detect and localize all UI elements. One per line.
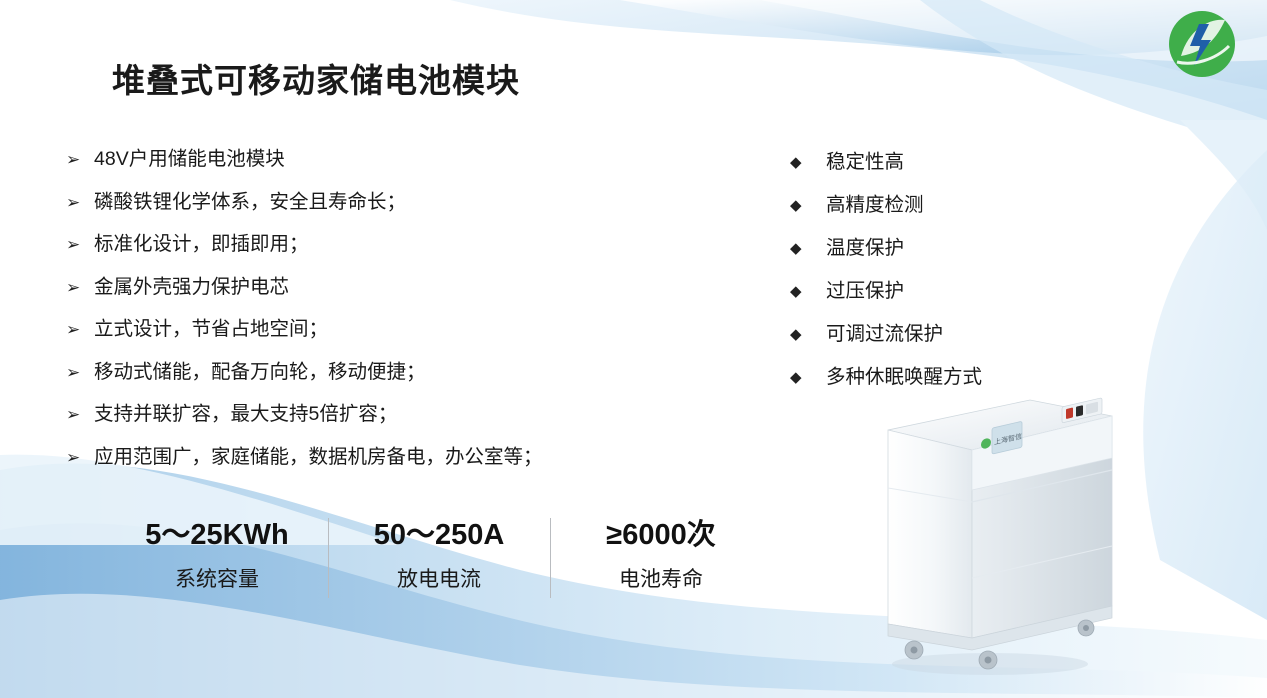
diamond-bullet-icon: ◆ <box>790 322 826 347</box>
feature-list-left: ➢ 48V户用储能电池模块 ➢ 磷酸铁锂化学体系，安全且寿命长； ➢ 标准化设计… <box>66 147 726 487</box>
arrow-bullet-icon: ➢ <box>66 317 94 342</box>
company-logo-icon <box>1159 8 1245 84</box>
arrow-bullet-icon: ➢ <box>66 147 94 172</box>
list-item: ➢ 48V户用储能电池模块 <box>66 147 726 172</box>
list-item-label: 应用范围广，家庭储能，数据机房备电，办公室等； <box>94 445 543 470</box>
list-item: ➢ 立式设计，节省占地空间； <box>66 317 726 342</box>
spec-cycle-life: ≥6000次 电池寿命 <box>550 512 772 602</box>
spec-value: 50～250A <box>328 512 550 558</box>
list-item-label: 立式设计，节省占地空间； <box>94 317 328 342</box>
arrow-bullet-icon: ➢ <box>66 232 94 257</box>
list-item-label: 支持并联扩容，最大支持5倍扩容； <box>94 402 397 427</box>
list-item-label: 可调过流保护 <box>826 322 943 347</box>
list-item-label: 温度保护 <box>826 236 904 261</box>
list-item-label: 磷酸铁锂化学体系，安全且寿命长； <box>94 190 406 215</box>
arrow-bullet-icon: ➢ <box>66 402 94 427</box>
list-item-label: 移动式储能，配备万向轮，移动便捷； <box>94 360 426 385</box>
spec-summary: 5～25KWh 系统容量 50～250A 放电电流 ≥6000次 电池寿命 <box>106 512 772 602</box>
list-item: ➢ 移动式储能，配备万向轮，移动便捷； <box>66 360 726 385</box>
list-item: ◆ 高精度检测 <box>790 193 1120 218</box>
list-item: ➢ 标准化设计，即插即用； <box>66 232 726 257</box>
diamond-bullet-icon: ◆ <box>790 279 826 304</box>
spec-label: 放电电流 <box>328 558 550 602</box>
diamond-bullet-icon: ◆ <box>790 236 826 261</box>
spec-capacity: 5～25KWh 系统容量 <box>106 512 328 602</box>
spec-discharge-current: 50～250A 放电电流 <box>328 512 550 602</box>
diamond-bullet-icon: ◆ <box>790 150 826 175</box>
list-item-label: 多种休眠唤醒方式 <box>826 365 982 390</box>
spec-label: 系统容量 <box>106 558 328 602</box>
list-item-label: 标准化设计，即插即用； <box>94 232 309 257</box>
list-item: ➢ 金属外壳强力保护电芯 <box>66 275 726 300</box>
spec-value: 5～25KWh <box>106 512 328 558</box>
diamond-bullet-icon: ◆ <box>790 365 826 390</box>
list-item: ◆ 稳定性高 <box>790 150 1120 175</box>
page-title: 堆叠式可移动家储电池模块 <box>112 54 520 102</box>
list-item: ◆ 多种休眠唤醒方式 <box>790 365 1120 390</box>
spec-value: ≥6000次 <box>550 512 772 558</box>
arrow-bullet-icon: ➢ <box>66 360 94 385</box>
list-item: ◆ 过压保护 <box>790 279 1120 304</box>
list-item-label: 稳定性高 <box>826 150 904 175</box>
list-item-label: 48V户用储能电池模块 <box>94 147 285 172</box>
list-item: ➢ 应用范围广，家庭储能，数据机房备电，办公室等； <box>66 445 726 470</box>
product-image: 上海智信 <box>880 392 1120 682</box>
arrow-bullet-icon: ➢ <box>66 275 94 300</box>
slide-root: 堆叠式可移动家储电池模块 ➢ 48V户用储能电池模块 ➢ 磷酸铁锂化学体系，安全… <box>0 0 1267 698</box>
list-item-label: 高精度检测 <box>826 193 924 218</box>
list-item: ◆ 可调过流保护 <box>790 322 1120 347</box>
spec-label: 电池寿命 <box>550 558 772 602</box>
list-item-label: 过压保护 <box>826 279 904 304</box>
feature-list-right: ◆ 稳定性高 ◆ 高精度检测 ◆ 温度保护 ◆ 过压保护 ◆ 可调过流保护 ◆ … <box>790 150 1120 408</box>
list-item-label: 金属外壳强力保护电芯 <box>94 275 289 300</box>
diamond-bullet-icon: ◆ <box>790 193 826 218</box>
list-item: ◆ 温度保护 <box>790 236 1120 261</box>
arrow-bullet-icon: ➢ <box>66 445 94 470</box>
list-item: ➢ 支持并联扩容，最大支持5倍扩容； <box>66 402 726 427</box>
arrow-bullet-icon: ➢ <box>66 190 94 215</box>
list-item: ➢ 磷酸铁锂化学体系，安全且寿命长； <box>66 190 726 215</box>
